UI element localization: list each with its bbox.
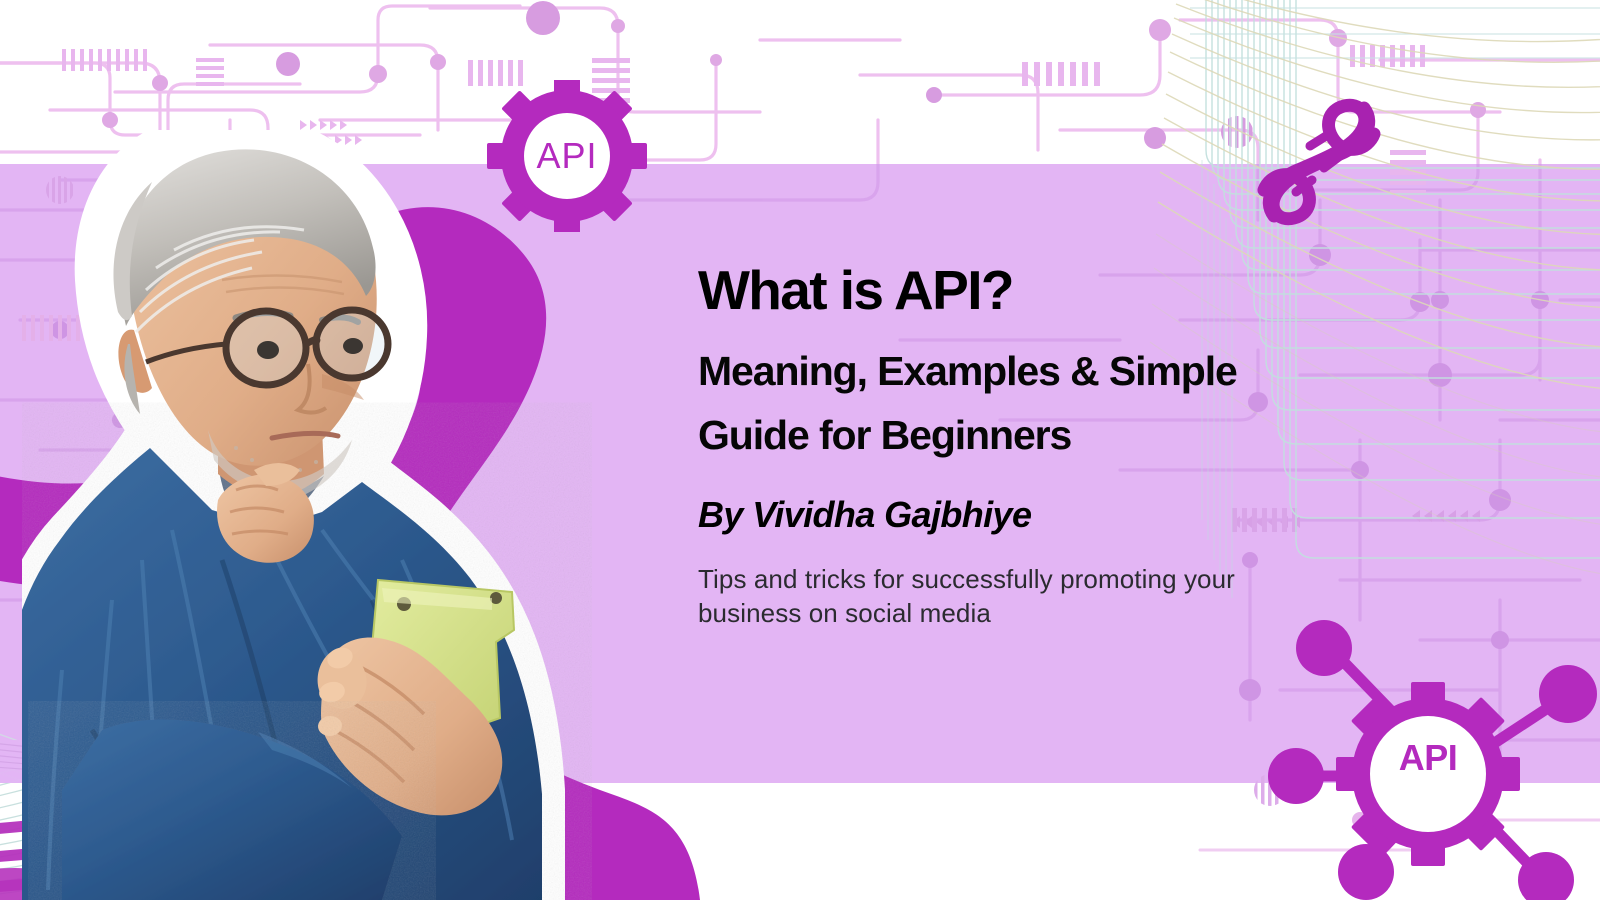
headline-block: What is API? Meaning, Examples & Simple …: [698, 262, 1428, 631]
api-gear-logo: API: [484, 80, 650, 232]
page-subtitle: Meaning, Examples & Simple Guide for Beg…: [698, 340, 1428, 468]
page-title: What is API?: [698, 262, 1428, 320]
api-gear-label: API: [484, 80, 650, 232]
blurb-line-2: business on social media: [698, 596, 1404, 631]
api-gear-network-label: API: [1371, 736, 1485, 780]
api-gear-network-logo: API: [1238, 608, 1600, 900]
blurb-text: Tips and tricks for successfully promoti…: [698, 562, 1404, 631]
subtitle-line-1: Meaning, Examples & Simple: [698, 340, 1428, 404]
blurb-line-1: Tips and tricks for successfully promoti…: [698, 562, 1404, 597]
subtitle-line-2: Guide for Beginners: [698, 404, 1428, 468]
banner-canvas: API: [0, 0, 1600, 900]
author-byline: By Vividha Gajbhiye: [698, 494, 1428, 536]
dna-helix-icon: [1248, 88, 1396, 232]
photo-thinking-man: [22, 130, 592, 900]
